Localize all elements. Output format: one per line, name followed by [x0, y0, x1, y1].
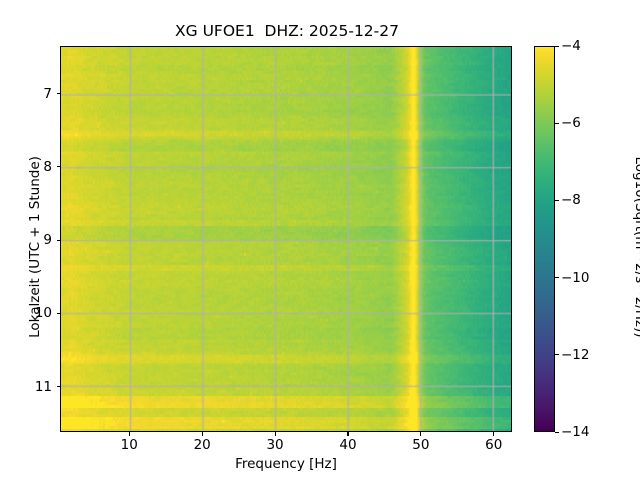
x-tick-label: 30: [266, 437, 283, 453]
x-tick-mark: [275, 432, 276, 436]
x-tick-label: 60: [485, 437, 502, 453]
y-tick-mark: [57, 93, 61, 94]
spectrogram-image: [61, 47, 511, 431]
y-tick-mark: [57, 240, 61, 241]
x-axis-label: Frequency [Hz]: [60, 456, 512, 472]
y-tick-mark: [57, 166, 61, 167]
x-tick-label: 20: [194, 437, 211, 453]
y-tick-label: 7: [43, 86, 52, 102]
colorbar-tick-mark: [555, 46, 559, 47]
y-axis-label: Lokalzeit (UTC + 1 Stunde): [27, 137, 43, 357]
y-tick-mark: [57, 386, 61, 387]
colorbar-tick-label: −12: [561, 347, 590, 363]
spectrogram-axes[interactable]: [60, 46, 512, 432]
x-tick-mark: [493, 432, 494, 436]
x-tick-label: 40: [339, 437, 356, 453]
x-tick-mark: [420, 432, 421, 436]
colorbar-tick-label: −6: [561, 115, 581, 131]
x-tick-mark: [129, 432, 130, 436]
colorbar-tick-mark: [555, 123, 559, 124]
colorbar-tick-label: −8: [561, 192, 581, 208]
x-tick-mark: [347, 432, 348, 436]
colorbar-label: Log10(Sqrt(m**2/s**2/Hz)): [632, 112, 640, 382]
colorbar-tick-label: −10: [561, 270, 590, 286]
colorbar-tick-mark: [555, 277, 559, 278]
y-tick-label: 11: [35, 379, 52, 395]
x-tick-label: 50: [412, 437, 429, 453]
colorbar-gradient: [535, 47, 554, 431]
colorbar-tick-label: −4: [561, 38, 581, 54]
colorbar-tick-label: −14: [561, 424, 590, 440]
y-tick-mark: [57, 313, 61, 314]
x-tick-label: 10: [121, 437, 138, 453]
page-title: XG UFOE1 DHZ: 2025-12-27: [0, 22, 574, 40]
colorbar[interactable]: [534, 46, 555, 432]
x-tick-mark: [202, 432, 203, 436]
y-tick-label: 9: [43, 232, 52, 248]
colorbar-tick-mark: [555, 354, 559, 355]
colorbar-tick-mark: [555, 432, 559, 433]
figure-canvas: XG UFOE1 DHZ: 2025-12-27 102030405060 78…: [0, 0, 640, 480]
y-tick-label: 8: [43, 159, 52, 175]
colorbar-tick-mark: [555, 200, 559, 201]
